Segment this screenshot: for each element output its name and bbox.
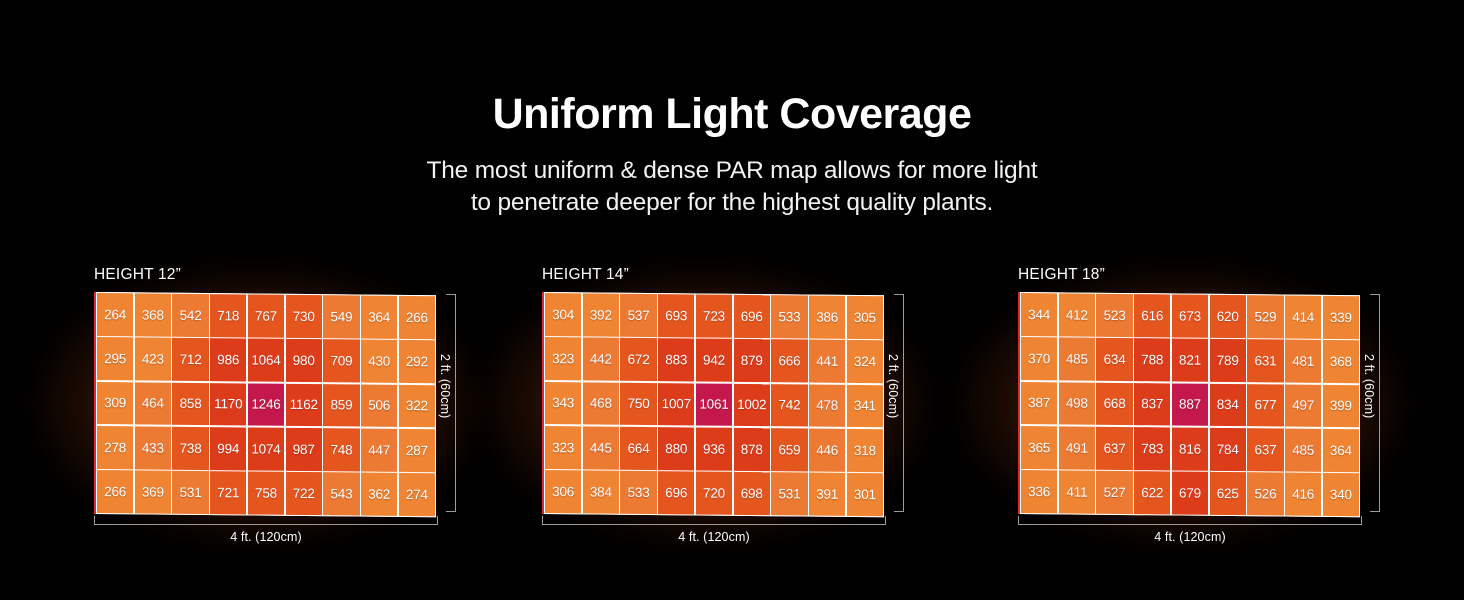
par-cell: 783 xyxy=(1134,427,1170,470)
subtitle-line-2: to penetrate deeper for the highest qual… xyxy=(0,187,1464,219)
par-cell: 323 xyxy=(545,426,581,469)
horizontal-dimension-bracket xyxy=(1018,516,1362,525)
par-cell: 392 xyxy=(583,293,619,336)
par-cell: 304 xyxy=(545,293,581,336)
par-grid-skew: 3043925376937236965333863053234426728839… xyxy=(544,292,884,517)
par-cell: 531 xyxy=(771,472,807,515)
par-cell: 497 xyxy=(1285,384,1321,427)
par-cell: 709 xyxy=(323,339,359,382)
par-cell: 266 xyxy=(97,470,133,513)
par-cell: 264 xyxy=(97,293,133,336)
horizontal-dimension-label: 4 ft. (120cm) xyxy=(542,530,886,544)
vertical-dimension-label: 2 ft. (60cm) xyxy=(438,354,452,418)
par-cell: 287 xyxy=(399,429,435,472)
par-cell: 784 xyxy=(1210,428,1246,471)
par-cell: 531 xyxy=(172,471,208,514)
par-cell: 412 xyxy=(1059,293,1095,336)
par-cell: 386 xyxy=(809,296,845,339)
par-cell: 464 xyxy=(135,382,171,425)
par-cell: 789 xyxy=(1210,339,1246,382)
par-cell: 537 xyxy=(620,294,656,337)
par-cell: 720 xyxy=(696,472,732,515)
par-cell: 679 xyxy=(1172,472,1208,515)
horizontal-dimension-label: 4 ft. (120cm) xyxy=(94,530,438,544)
par-grid-wrapper: 3444125236166736205294143393704856347888… xyxy=(1020,292,1360,514)
header: Uniform Light Coverage The most uniform … xyxy=(0,92,1464,219)
par-cell: 478 xyxy=(809,384,845,427)
par-cell: 673 xyxy=(1172,294,1208,337)
par-cell: 994 xyxy=(210,427,246,470)
par-cell: 668 xyxy=(1096,382,1132,425)
par-grid-skew: 3444125236166736205294143393704856347888… xyxy=(1020,292,1360,517)
par-cell: 542 xyxy=(172,294,208,337)
par-cell: 721 xyxy=(210,471,246,514)
par-cell: 1162 xyxy=(286,383,322,426)
par-cell: 278 xyxy=(97,426,133,469)
horizontal-dimension-bracket xyxy=(94,516,438,525)
par-cell: 339 xyxy=(1323,296,1359,339)
par-cell: 723 xyxy=(696,294,732,337)
par-cell: 533 xyxy=(771,295,807,338)
par-cell: 391 xyxy=(809,473,845,516)
par-cell: 696 xyxy=(658,471,694,514)
par-cell: 625 xyxy=(1210,472,1246,515)
par-cell: 368 xyxy=(1323,340,1359,383)
par-grid: 3444125236166736205294143393704856347888… xyxy=(1020,292,1360,517)
par-cell: 323 xyxy=(545,337,581,380)
par-cell: 301 xyxy=(847,473,883,516)
par-cell: 758 xyxy=(248,472,284,515)
panel-height-label: HEIGHT 14” xyxy=(542,266,629,284)
par-cell: 834 xyxy=(1210,383,1246,426)
vertical-dimension-label: 2 ft. (60cm) xyxy=(886,354,900,418)
panel-height-label: HEIGHT 18” xyxy=(1018,266,1105,284)
par-cell: 322 xyxy=(399,385,435,428)
par-cell: 1061 xyxy=(696,383,732,426)
par-map-panels: HEIGHT 12”264368542718767730549364266295… xyxy=(0,258,1464,568)
par-cell: 446 xyxy=(809,428,845,471)
par-map-infographic: Uniform Light Coverage The most uniform … xyxy=(0,0,1464,600)
par-cell: 883 xyxy=(658,338,694,381)
par-grid: 3043925376937236965333863053234426728839… xyxy=(544,292,884,517)
par-cell: 274 xyxy=(399,473,435,516)
par-cell: 677 xyxy=(1247,384,1283,427)
par-cell: 1074 xyxy=(248,427,284,470)
par-cell: 666 xyxy=(771,339,807,382)
par-cell: 430 xyxy=(361,340,397,383)
par-cell: 384 xyxy=(583,471,619,514)
par-cell: 712 xyxy=(172,338,208,381)
par-cell: 364 xyxy=(361,296,397,339)
par-cell: 821 xyxy=(1172,339,1208,382)
par-cell: 637 xyxy=(1096,427,1132,470)
par-cell: 942 xyxy=(696,339,732,382)
par-cell: 664 xyxy=(620,427,656,470)
par-cell: 416 xyxy=(1285,473,1321,516)
par-cell: 481 xyxy=(1285,340,1321,383)
par-cell: 491 xyxy=(1059,426,1095,469)
par-cell: 526 xyxy=(1247,472,1283,515)
par-cell: 365 xyxy=(1021,426,1057,469)
par-cell: 878 xyxy=(734,428,770,471)
par-cell: 659 xyxy=(771,428,807,471)
par-cell: 399 xyxy=(1323,385,1359,428)
par-cell: 324 xyxy=(847,340,883,383)
par-cell: 672 xyxy=(620,338,656,381)
par-cell: 1007 xyxy=(658,383,694,426)
par-cell: 441 xyxy=(809,340,845,383)
par-cell: 767 xyxy=(248,294,284,337)
par-cell: 445 xyxy=(583,426,619,469)
par-cell: 485 xyxy=(1285,428,1321,471)
par-cell: 369 xyxy=(135,471,171,514)
par-cell: 634 xyxy=(1096,338,1132,381)
par-cell: 523 xyxy=(1096,294,1132,337)
par-cell: 341 xyxy=(847,385,883,428)
par-cell: 468 xyxy=(583,382,619,425)
par-cell: 986 xyxy=(210,338,246,381)
par-cell: 498 xyxy=(1059,382,1095,425)
par-cell: 738 xyxy=(172,427,208,470)
par-cell: 442 xyxy=(583,338,619,381)
par-cell: 447 xyxy=(361,428,397,471)
par-cell: 718 xyxy=(210,294,246,337)
par-cell: 837 xyxy=(1134,383,1170,426)
par-cell: 306 xyxy=(545,470,581,513)
par-cell: 879 xyxy=(734,339,770,382)
par-cell: 1170 xyxy=(210,383,246,426)
par-cell: 936 xyxy=(696,427,732,470)
par-cell: 696 xyxy=(734,295,770,338)
par-cell: 742 xyxy=(771,384,807,427)
par-cell: 788 xyxy=(1134,338,1170,381)
par-cell: 1246 xyxy=(248,383,284,426)
par-cell: 750 xyxy=(620,382,656,425)
par-grid-wrapper: 3043925376937236965333863053234426728839… xyxy=(544,292,884,514)
par-cell: 485 xyxy=(1059,338,1095,381)
par-cell: 344 xyxy=(1021,293,1057,336)
par-cell: 987 xyxy=(286,428,322,471)
par-cell: 343 xyxy=(545,382,581,425)
horizontal-dimension-bracket xyxy=(542,516,886,525)
par-cell: 433 xyxy=(135,426,171,469)
par-cell: 616 xyxy=(1134,294,1170,337)
par-cell: 387 xyxy=(1021,382,1057,425)
par-map-panel: HEIGHT 18”344412523616673620529414339370… xyxy=(980,258,1400,568)
par-cell: 631 xyxy=(1247,339,1283,382)
par-cell: 887 xyxy=(1172,383,1208,426)
par-cell: 309 xyxy=(97,382,133,425)
panel-height-label: HEIGHT 12” xyxy=(94,266,181,284)
par-cell: 698 xyxy=(734,472,770,515)
par-cell: 859 xyxy=(323,384,359,427)
par-grid-wrapper: 2643685427187677305493642662954237129861… xyxy=(96,292,436,514)
par-cell: 693 xyxy=(658,294,694,337)
vertical-dimension-label: 2 ft. (60cm) xyxy=(1362,354,1376,418)
par-cell: 336 xyxy=(1021,470,1057,513)
par-cell: 543 xyxy=(323,472,359,515)
par-map-panel: HEIGHT 14”304392537693723696533386305323… xyxy=(504,258,924,568)
par-cell: 411 xyxy=(1059,471,1095,514)
par-cell: 622 xyxy=(1134,471,1170,514)
par-cell: 414 xyxy=(1285,296,1321,339)
par-cell: 620 xyxy=(1210,295,1246,338)
par-cell: 527 xyxy=(1096,471,1132,514)
par-cell: 340 xyxy=(1323,473,1359,516)
par-cell: 305 xyxy=(847,296,883,339)
par-cell: 1064 xyxy=(248,339,284,382)
par-cell: 295 xyxy=(97,337,133,380)
par-cell: 980 xyxy=(286,339,322,382)
page-title: Uniform Light Coverage xyxy=(0,92,1464,137)
par-cell: 362 xyxy=(361,473,397,516)
par-cell: 637 xyxy=(1247,428,1283,471)
par-cell: 533 xyxy=(620,471,656,514)
page-subtitle: The most uniform & dense PAR map allows … xyxy=(0,155,1464,219)
par-cell: 816 xyxy=(1172,427,1208,470)
par-cell: 364 xyxy=(1323,429,1359,472)
par-grid: 2643685427187677305493642662954237129861… xyxy=(96,292,436,517)
par-cell: 730 xyxy=(286,295,322,338)
horizontal-dimension-label: 4 ft. (120cm) xyxy=(1018,530,1362,544)
par-cell: 1002 xyxy=(734,383,770,426)
par-cell: 370 xyxy=(1021,337,1057,380)
subtitle-line-1: The most uniform & dense PAR map allows … xyxy=(0,155,1464,187)
par-cell: 318 xyxy=(847,429,883,472)
par-cell: 858 xyxy=(172,382,208,425)
par-cell: 880 xyxy=(658,427,694,470)
par-cell: 722 xyxy=(286,472,322,515)
par-cell: 506 xyxy=(361,384,397,427)
par-cell: 549 xyxy=(323,295,359,338)
par-cell: 292 xyxy=(399,340,435,383)
par-cell: 423 xyxy=(135,338,171,381)
par-cell: 529 xyxy=(1247,295,1283,338)
par-cell: 748 xyxy=(323,428,359,471)
par-cell: 368 xyxy=(135,293,171,336)
par-grid-skew: 2643685427187677305493642662954237129861… xyxy=(96,292,436,517)
par-cell: 266 xyxy=(399,296,435,339)
par-map-panel: HEIGHT 12”264368542718767730549364266295… xyxy=(56,258,476,568)
